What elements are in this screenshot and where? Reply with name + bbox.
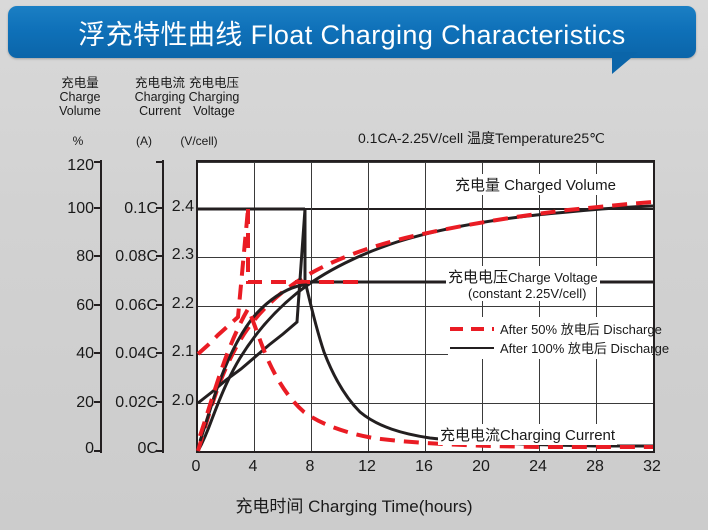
axis-unit-voltage: (V/cell) [168, 134, 230, 148]
axis-heading-volume: 充电量 Charge Volume [38, 76, 122, 118]
curves-svg [198, 162, 653, 451]
legend-swatch-dashed-icon [450, 323, 494, 335]
xtick-label: 32 [632, 458, 672, 476]
annotation-charge-voltage: 充电电压Charge Voltage [446, 266, 600, 287]
annotation-charge-voltage-cn: 充电电压 [448, 269, 508, 286]
ytick-current: 0.08C [96, 248, 158, 266]
plot-area: 充电量 Charged Volume 充电电压Charge Voltage (c… [196, 160, 655, 453]
ytick-volume: 80 [34, 248, 94, 266]
xtick-label: 28 [575, 458, 615, 476]
ytick-current: 0.06C [96, 297, 158, 315]
ytick-voltage: 2.2 [158, 295, 194, 313]
axis-heading-voltage-en2: Voltage [172, 104, 256, 118]
annotation-charge-voltage-en: Charge Voltage [508, 270, 598, 285]
xtick-label: 24 [518, 458, 558, 476]
ytick-current: 0.04C [96, 345, 158, 363]
xtick-label: 16 [404, 458, 444, 476]
axis-unit-current: (A) [124, 134, 164, 148]
curve-voltage-100 [198, 209, 305, 403]
axis-unit-volume: % [60, 134, 96, 148]
ytick-mark-current [156, 161, 163, 163]
legend-item: After 50% 放电后 Discharge [450, 319, 650, 338]
axis-heading-volume-en2: Volume [38, 104, 122, 118]
ytick-volume: 120 [34, 157, 94, 175]
ytick-mark-volume [94, 161, 101, 163]
legend-label: After 50% 放电后 Discharge [500, 319, 662, 338]
ytick-mark-current [156, 450, 163, 452]
ytick-volume: 60 [34, 297, 94, 315]
xtick-label: 4 [233, 458, 273, 476]
curve-current-100 [200, 285, 653, 446]
ytick-voltage: 2.1 [158, 343, 194, 361]
xtick-label: 0 [176, 458, 216, 476]
ytick-volume: 20 [34, 394, 94, 412]
legend-label: After 100% 放电后 Discharge [500, 338, 669, 357]
ytick-current: 0.1C [96, 200, 158, 218]
annotation-charging-current: 充电电流Charging Current [438, 424, 617, 445]
ytick-voltage: 2.4 [158, 198, 194, 216]
annotation-charged-volume: 充电量 Charged Volume [453, 174, 618, 195]
xtick-label: 12 [347, 458, 387, 476]
ytick-voltage: 2.0 [158, 392, 194, 410]
ytick-current: 0C [96, 440, 158, 458]
ytick-volume: 100 [34, 200, 94, 218]
axis-heading-volume-cn: 充电量 [38, 76, 122, 90]
legend-swatch-solid-icon [450, 342, 494, 354]
ytick-volume: 0 [34, 440, 94, 458]
annotation-charge-voltage-sub: (constant 2.25V/cell) [466, 286, 589, 301]
ytick-voltage: 2.3 [158, 246, 194, 264]
xaxis-title: 充电时间 Charging Time(hours) [0, 492, 708, 517]
ytick-current: 0.02C [96, 394, 158, 412]
page-title: 浮充特性曲线 Float Charging Characteristics [8, 6, 696, 58]
ytick-volume: 40 [34, 345, 94, 363]
axis-heading-voltage-en1: Charging [172, 90, 256, 104]
curve-voltage-50 [198, 209, 248, 354]
axis-heading-voltage-cn: 充电电压 [172, 76, 256, 90]
xtick-label: 8 [290, 458, 330, 476]
legend-item: After 100% 放电后 Discharge [450, 338, 650, 357]
axis-heading-voltage: 充电电压 Charging Voltage [172, 76, 256, 118]
axis-heading-volume-en1: Charge [38, 90, 122, 104]
condition-note: 0.1CA-2.25V/cell 温度Temperature25℃ [358, 128, 605, 148]
xtick-label: 20 [461, 458, 501, 476]
legend: After 50% 放电后 Discharge After 100% 放电后 D… [448, 317, 652, 359]
